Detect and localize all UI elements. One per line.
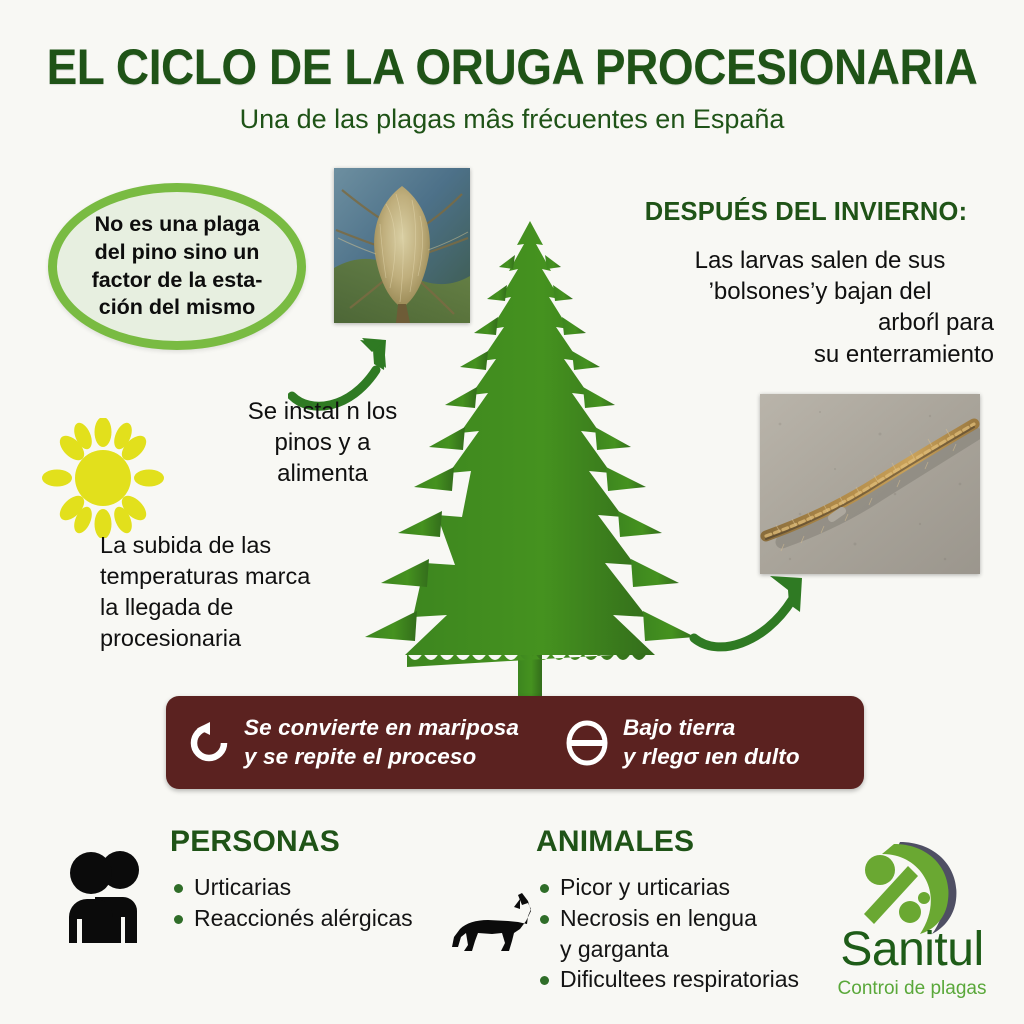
list-item: Picor y urticarias: [538, 872, 838, 903]
banner-2-line-2: y rlegσ ıen dulto: [623, 744, 800, 769]
after-winter-line-1: Las larvas salen de sus: [695, 247, 946, 274]
step-temperature-line-2: temperaturas marca: [100, 563, 310, 589]
step-temperature-line-4: procesionaria: [100, 625, 241, 651]
fact-bubble-line-4: ción del mismo: [99, 295, 256, 319]
after-winter-text: Las larvas salen de sus ’bolsones’y baja…: [628, 245, 1012, 370]
banner-item-butterfly-text: Se convierte en mariposa y se repite el …: [244, 714, 519, 771]
step-install-line-2: pinos y a: [274, 429, 370, 456]
sanitul-logo-mark: [848, 838, 966, 936]
sanitul-logo-name: Sanitul: [812, 926, 1012, 974]
list-item: y garganta: [538, 934, 838, 965]
arrow-right-shape: [688, 566, 833, 661]
step-temperature-text: La subida de las temperaturas marca la l…: [100, 530, 380, 654]
people-shape: [55, 845, 155, 945]
after-winter-line-2: ’bolsones’y bajan del: [709, 278, 932, 305]
step-install-line-3: alimenta: [277, 460, 368, 487]
step-install-line-1: Se instal n los: [248, 398, 397, 425]
dog-shape: [448, 893, 534, 951]
step-temperature-line-3: la llegada de: [100, 594, 233, 620]
procession-photo-image: [760, 394, 980, 574]
sun-icon: [38, 418, 168, 538]
after-winter-line-4: su enterramiento: [628, 339, 1012, 370]
animales-bullets: Picor y urticarias Necrosis en lengua y …: [538, 872, 838, 995]
list-item: Urticarias: [172, 872, 472, 903]
list-item: Dificultees respiratorias: [538, 964, 838, 995]
banner-1-line-2: y se repite el proceso: [244, 744, 476, 769]
list-item: Necrosis en lengua: [538, 903, 838, 934]
rotate-ccw-icon: [188, 722, 230, 764]
fact-bubble: No es una plaga del pino sino un factor …: [48, 183, 306, 350]
banner-item-butterfly: Se convierte en mariposa y se repite el …: [188, 714, 519, 771]
page-title: EL CICLO DE LA ORUGA PROCESIONARIA: [41, 38, 983, 96]
animales-heading: ANIMALES: [536, 825, 694, 859]
fact-bubble-line-1: No es una plaga: [95, 212, 260, 236]
arrow-to-procession-icon: [688, 566, 833, 661]
list-item: Reaccionés alérgicas: [172, 903, 472, 934]
cycle-banner: Se convierte en mariposa y se repite el …: [166, 696, 864, 789]
sanitul-logo-tagline: Controi de plagas: [812, 978, 1012, 1000]
personas-bullets: Urticarias Reaccionés alérgicas: [172, 872, 472, 934]
fact-bubble-text: No es una plaga del pino sino un factor …: [86, 211, 269, 323]
page-subtitle: Una de las plagas mâs frécuentes en Espa…: [0, 104, 1024, 135]
dog-icon: [448, 893, 534, 951]
after-winter-line-3: arboŕl para: [628, 307, 1012, 338]
no-entry-icon: [565, 720, 609, 766]
fact-bubble-line-3: factor de la esta-: [92, 268, 263, 292]
banner-item-underground: Bajo tierra y rlegσ ıen dulto: [565, 714, 800, 771]
sanitul-logo[interactable]: Sanitul Controi de plagas: [812, 838, 1012, 1018]
procession-photo: [760, 394, 980, 574]
sun-shape: [38, 418, 168, 538]
personas-heading: PERSONAS: [170, 825, 340, 859]
banner-2-line-1: Bajo tierra: [623, 715, 735, 740]
after-winter-heading: DESPUÉS DEL INVIERNO:: [600, 198, 1012, 227]
infographic-canvas: EL CICLO DE LA ORUGA PROCESIONARIA Una d…: [0, 0, 1024, 1024]
step-temperature-line-1: La subida de las: [100, 532, 271, 558]
step-install-text: Se instal n los pinos y a alimenta: [205, 396, 440, 490]
banner-1-line-1: Se convierte en mariposa: [244, 715, 519, 740]
people-icon: [55, 845, 155, 945]
fact-bubble-line-2: del pino sino un: [95, 240, 260, 264]
banner-item-underground-text: Bajo tierra y rlegσ ıen dulto: [623, 714, 800, 771]
sanitul-mark-shape: [848, 838, 966, 936]
